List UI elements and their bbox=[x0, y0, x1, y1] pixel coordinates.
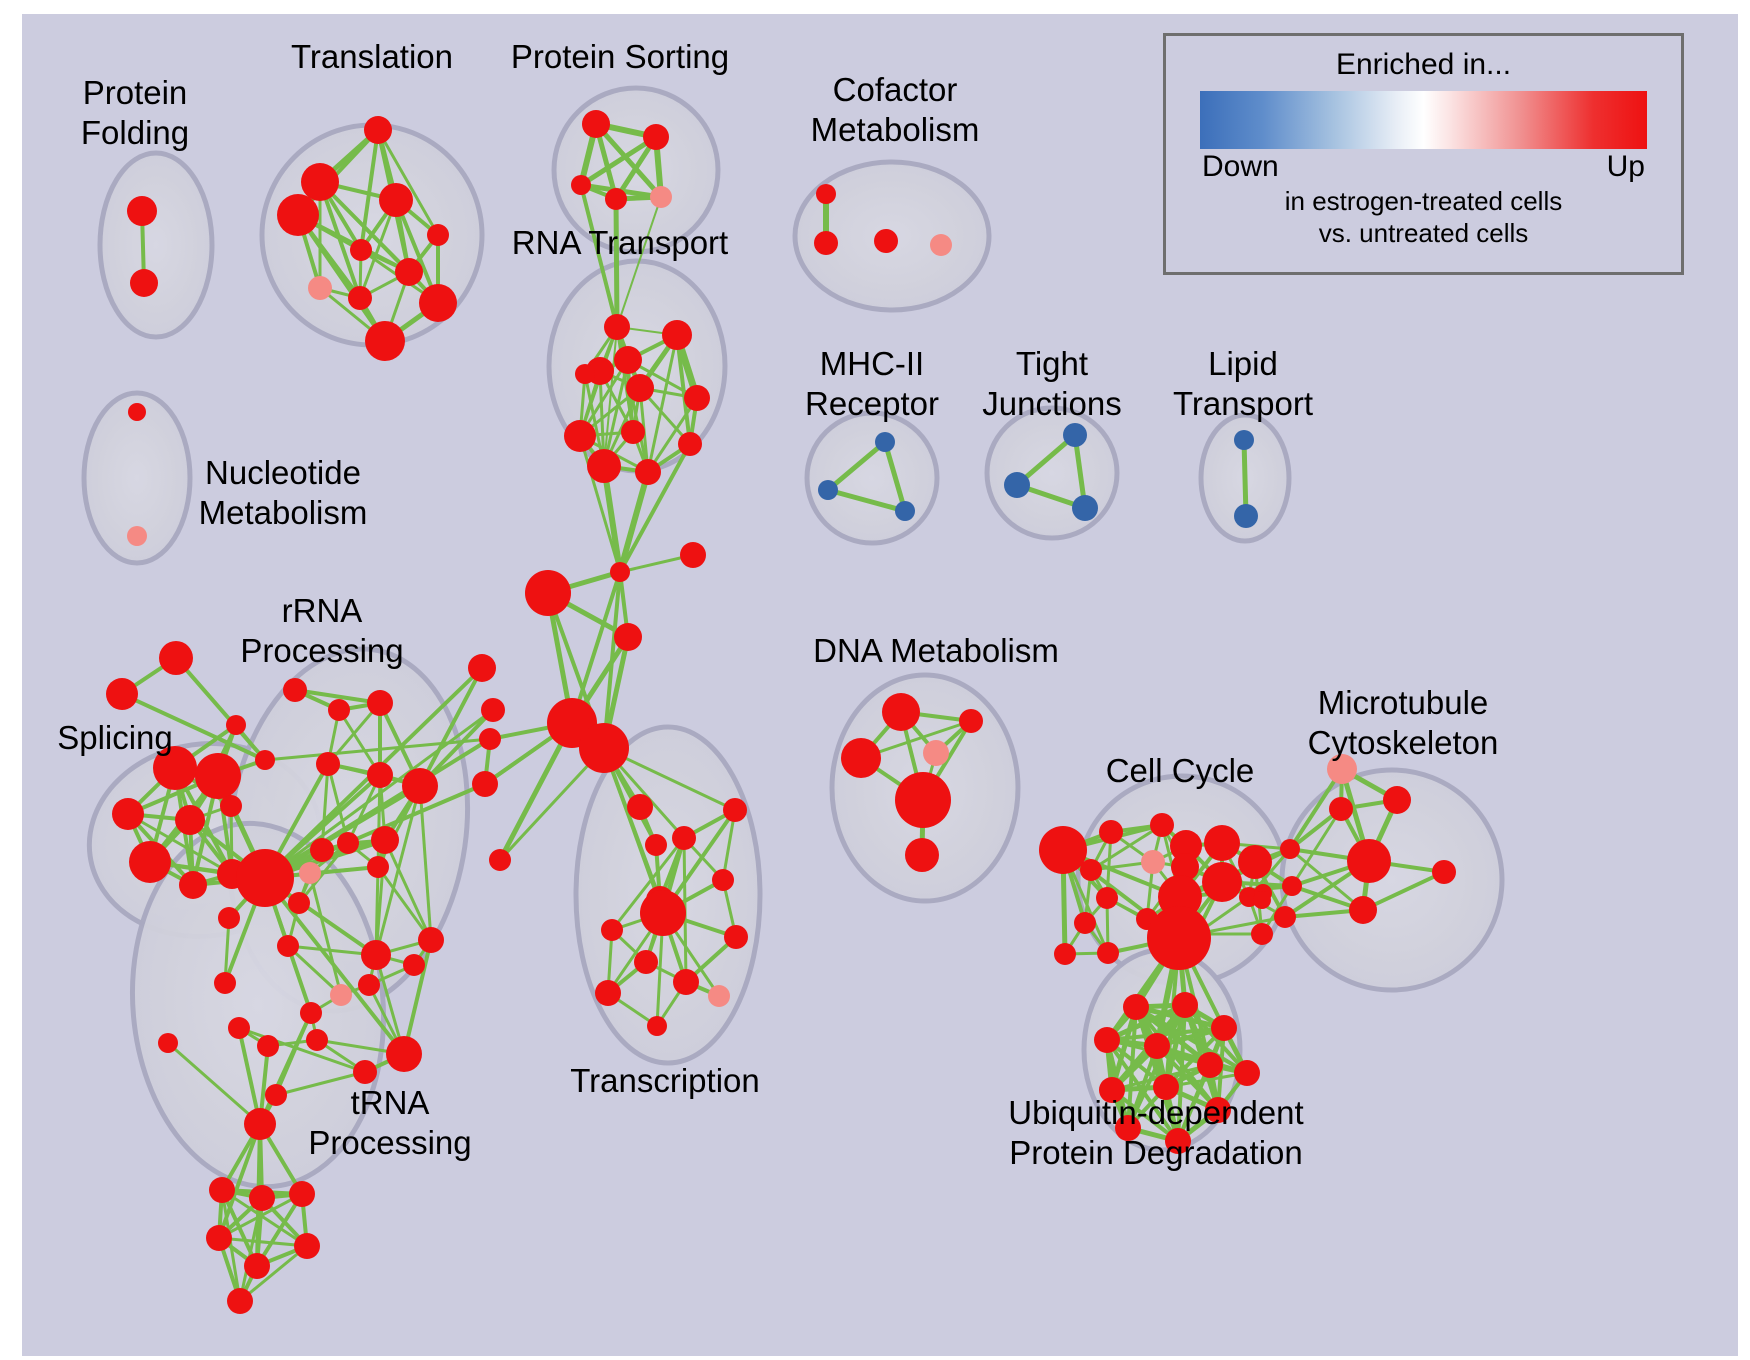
network-node[interactable] bbox=[288, 892, 310, 914]
cluster-label-rrna-processing: rRNAProcessing bbox=[240, 592, 403, 669]
network-node[interactable] bbox=[1039, 826, 1087, 874]
network-node[interactable] bbox=[348, 286, 372, 310]
network-node[interactable] bbox=[1074, 912, 1096, 934]
network-node[interactable] bbox=[127, 526, 147, 546]
network-node[interactable] bbox=[610, 562, 630, 582]
network-node[interactable] bbox=[645, 834, 667, 856]
network-node[interactable] bbox=[159, 641, 193, 675]
network-node[interactable] bbox=[814, 231, 838, 255]
cluster-label-tight-junctions: TightJunctions bbox=[982, 345, 1121, 422]
network-node[interactable] bbox=[265, 1084, 287, 1106]
network-node[interactable] bbox=[673, 969, 699, 995]
network-node[interactable] bbox=[614, 623, 642, 651]
cluster-label-cell-cycle: Cell Cycle bbox=[1106, 752, 1255, 789]
legend-end-labels: Down Up bbox=[1166, 149, 1681, 184]
network-node[interactable] bbox=[1329, 797, 1353, 821]
network-node[interactable] bbox=[895, 772, 951, 828]
network-node[interactable] bbox=[127, 196, 157, 226]
network-node[interactable] bbox=[468, 654, 496, 682]
network-node[interactable] bbox=[130, 269, 158, 297]
network-node[interactable] bbox=[662, 320, 692, 350]
network-node[interactable] bbox=[255, 750, 275, 770]
cluster-label-dna-metabolism: DNA Metabolism bbox=[813, 632, 1059, 669]
legend-subtitle-line2: vs. untreated cells bbox=[1166, 216, 1681, 248]
network-node[interactable] bbox=[283, 678, 307, 702]
network-node[interactable] bbox=[1096, 887, 1118, 909]
legend-up-label: Up bbox=[1607, 150, 1645, 184]
network-node[interactable] bbox=[627, 794, 653, 820]
network-node[interactable] bbox=[300, 1002, 322, 1024]
network-node[interactable] bbox=[227, 1288, 253, 1314]
network-node[interactable] bbox=[604, 314, 630, 340]
network-node[interactable] bbox=[571, 175, 591, 195]
network-node[interactable] bbox=[680, 542, 706, 568]
network-node[interactable] bbox=[579, 723, 629, 773]
network-node[interactable] bbox=[626, 374, 654, 402]
network-node[interactable] bbox=[427, 224, 449, 246]
network-node[interactable] bbox=[1072, 495, 1098, 521]
network-node[interactable] bbox=[328, 699, 350, 721]
network-node[interactable] bbox=[1197, 1052, 1223, 1078]
network-node[interactable] bbox=[930, 234, 952, 256]
network-node[interactable] bbox=[209, 1177, 235, 1203]
network-node[interactable] bbox=[128, 403, 146, 421]
network-node[interactable] bbox=[841, 738, 881, 778]
network-node[interactable] bbox=[818, 480, 838, 500]
network-node[interactable] bbox=[306, 1029, 328, 1051]
network-node[interactable] bbox=[1234, 430, 1254, 450]
network-node[interactable] bbox=[575, 364, 595, 384]
network-node[interactable] bbox=[367, 762, 393, 788]
cluster-label-rna-transport: RNA Transport bbox=[512, 224, 728, 261]
network-node[interactable] bbox=[601, 919, 623, 941]
legend-down-label: Down bbox=[1202, 150, 1279, 184]
network-node[interactable] bbox=[723, 798, 747, 822]
network-node[interactable] bbox=[905, 838, 939, 872]
network-node[interactable] bbox=[708, 985, 730, 1007]
network-node[interactable] bbox=[1147, 906, 1211, 970]
network-node[interactable] bbox=[1080, 859, 1102, 881]
network-node[interactable] bbox=[634, 950, 658, 974]
network-node[interactable] bbox=[214, 972, 236, 994]
network-node[interactable] bbox=[605, 188, 627, 210]
network-node[interactable] bbox=[643, 124, 669, 150]
network-node[interactable] bbox=[874, 229, 898, 253]
network-node[interactable] bbox=[365, 321, 405, 361]
network-node[interactable] bbox=[959, 709, 983, 733]
cluster-label-transcription: Transcription bbox=[570, 1062, 760, 1099]
network-node[interactable] bbox=[923, 740, 949, 766]
network-node[interactable] bbox=[882, 693, 920, 731]
network-node[interactable] bbox=[816, 184, 836, 204]
network-node[interactable] bbox=[672, 826, 696, 850]
network-node[interactable] bbox=[277, 935, 299, 957]
network-node[interactable] bbox=[875, 432, 895, 452]
network-node[interactable] bbox=[1123, 994, 1149, 1020]
network-node[interactable] bbox=[1172, 992, 1198, 1018]
network-edge bbox=[378, 775, 380, 867]
network-edge bbox=[620, 472, 648, 572]
network-edge bbox=[616, 199, 617, 327]
network-node[interactable] bbox=[386, 1036, 422, 1072]
network-node[interactable] bbox=[337, 832, 359, 854]
network-node[interactable] bbox=[112, 798, 144, 830]
network-node[interactable] bbox=[614, 346, 642, 374]
cluster-label-translation: Translation bbox=[291, 38, 453, 75]
network-node[interactable] bbox=[371, 826, 399, 854]
cluster-label-nucleotide-metabolism: NucleotideMetabolism bbox=[199, 454, 368, 531]
network-node[interactable] bbox=[525, 570, 571, 616]
network-node[interactable] bbox=[218, 907, 240, 929]
network-node[interactable] bbox=[1282, 876, 1302, 896]
network-node[interactable] bbox=[419, 284, 457, 322]
network-node[interactable] bbox=[1094, 1027, 1120, 1053]
network-node[interactable] bbox=[244, 1253, 270, 1279]
network-node[interactable] bbox=[106, 678, 138, 710]
network-node[interactable] bbox=[1274, 906, 1296, 928]
network-node[interactable] bbox=[1144, 1033, 1170, 1059]
network-node[interactable] bbox=[1141, 850, 1165, 874]
legend-color-scale bbox=[1200, 91, 1647, 149]
network-node[interactable] bbox=[647, 1016, 667, 1036]
network-node[interactable] bbox=[1238, 845, 1272, 879]
network-node[interactable] bbox=[1234, 1060, 1260, 1086]
network-node[interactable] bbox=[294, 1233, 320, 1259]
network-node[interactable] bbox=[175, 805, 205, 835]
network-node[interactable] bbox=[418, 927, 444, 953]
network-node[interactable] bbox=[582, 110, 610, 138]
network-node[interactable] bbox=[249, 1185, 275, 1211]
network-node[interactable] bbox=[195, 753, 241, 799]
cluster-label-protein-folding: ProteinFolding bbox=[81, 74, 189, 151]
network-node[interactable] bbox=[472, 771, 498, 797]
network-node[interactable] bbox=[402, 768, 438, 804]
cluster-label-splicing: Splicing bbox=[57, 719, 173, 756]
network-node[interactable] bbox=[220, 795, 242, 817]
figure-canvas: ProteinFoldingTranslationProtein Sorting… bbox=[0, 0, 1750, 1360]
network-node[interactable] bbox=[1099, 820, 1123, 844]
network-node[interactable] bbox=[367, 856, 389, 878]
cluster-label-microtubule: MicrotubuleCytoskeleton bbox=[1308, 684, 1499, 761]
cluster-ellipse-protein-folding bbox=[100, 153, 212, 337]
network-node[interactable] bbox=[489, 849, 511, 871]
legend-subtitle-line1: in estrogen-treated cells bbox=[1166, 184, 1681, 216]
network-node[interactable] bbox=[1251, 923, 1273, 945]
network-node[interactable] bbox=[316, 752, 340, 776]
network-node[interactable] bbox=[481, 698, 505, 722]
network-node[interactable] bbox=[650, 186, 672, 208]
network-node[interactable] bbox=[308, 276, 332, 300]
network-node[interactable] bbox=[158, 1033, 178, 1053]
network-node[interactable] bbox=[358, 974, 380, 996]
network-node[interactable] bbox=[350, 239, 372, 261]
cluster-label-mhc-ii: MHC-IIReceptor bbox=[805, 345, 939, 422]
network-node[interactable] bbox=[712, 869, 734, 891]
network-node[interactable] bbox=[299, 862, 321, 884]
network-node[interactable] bbox=[479, 728, 501, 750]
network-node[interactable] bbox=[289, 1181, 315, 1207]
network-node[interactable] bbox=[684, 385, 710, 411]
cluster-label-cofactor-metabolism: CofactorMetabolism bbox=[811, 71, 980, 148]
network-node[interactable] bbox=[621, 420, 645, 444]
network-node[interactable] bbox=[1383, 786, 1411, 814]
network-node[interactable] bbox=[1097, 942, 1119, 964]
network-node[interactable] bbox=[226, 715, 246, 735]
network-node[interactable] bbox=[206, 1225, 232, 1251]
cluster-label-protein-sorting: Protein Sorting bbox=[511, 38, 729, 75]
network-node[interactable] bbox=[635, 459, 661, 485]
network-node[interactable] bbox=[244, 1108, 276, 1140]
network-node[interactable] bbox=[310, 838, 334, 862]
network-node[interactable] bbox=[1253, 891, 1271, 909]
network-node[interactable] bbox=[1204, 825, 1240, 861]
network-node[interactable] bbox=[1347, 839, 1391, 883]
network-node[interactable] bbox=[1211, 1015, 1237, 1041]
network-node[interactable] bbox=[895, 501, 915, 521]
legend-panel: Enriched in... Down Up in estrogen-treat… bbox=[1163, 33, 1684, 275]
network-node[interactable] bbox=[353, 1060, 377, 1084]
network-node[interactable] bbox=[364, 116, 392, 144]
network-node[interactable] bbox=[395, 258, 423, 286]
network-node[interactable] bbox=[1054, 943, 1076, 965]
network-node[interactable] bbox=[595, 980, 621, 1006]
network-node[interactable] bbox=[379, 183, 413, 217]
cluster-ellipse-mhc-ii bbox=[807, 413, 937, 543]
legend-title: Enriched in... bbox=[1166, 36, 1681, 82]
network-node[interactable] bbox=[330, 984, 352, 1006]
network-node[interactable] bbox=[403, 954, 425, 976]
network-node[interactable] bbox=[640, 890, 686, 936]
network-node[interactable] bbox=[1063, 423, 1087, 447]
network-node[interactable] bbox=[361, 940, 391, 970]
network-node[interactable] bbox=[179, 871, 207, 899]
network-node[interactable] bbox=[724, 925, 748, 949]
network-node[interactable] bbox=[129, 841, 171, 883]
network-node[interactable] bbox=[1004, 472, 1030, 498]
network-node[interactable] bbox=[587, 449, 621, 483]
cluster-ellipse-tight-junctions bbox=[987, 408, 1117, 538]
network-node[interactable] bbox=[1432, 860, 1456, 884]
network-node[interactable] bbox=[367, 690, 393, 716]
network-node[interactable] bbox=[236, 849, 294, 907]
network-node[interactable] bbox=[1280, 839, 1300, 859]
network-node[interactable] bbox=[257, 1035, 279, 1057]
network-node[interactable] bbox=[228, 1017, 250, 1039]
network-node[interactable] bbox=[678, 432, 702, 456]
network-node[interactable] bbox=[1150, 813, 1174, 837]
network-node[interactable] bbox=[301, 163, 339, 201]
network-node[interactable] bbox=[564, 420, 596, 452]
cluster-label-lipid-transport: LipidTransport bbox=[1173, 345, 1313, 422]
network-node[interactable] bbox=[1202, 862, 1242, 902]
network-node[interactable] bbox=[1349, 896, 1377, 924]
network-node[interactable] bbox=[1234, 504, 1258, 528]
network-node[interactable] bbox=[277, 194, 319, 236]
